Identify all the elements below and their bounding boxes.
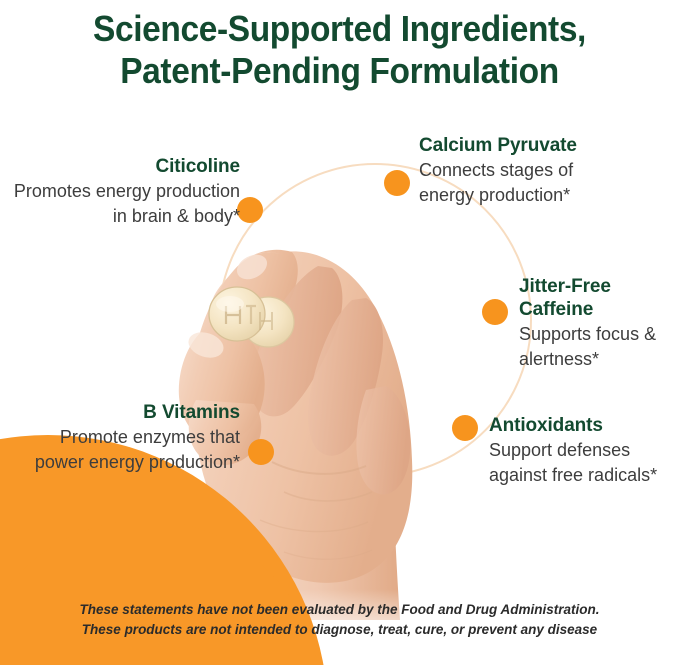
- callout-heading-calcium-pyruvate: Calcium Pyruvate: [419, 134, 619, 157]
- callout-body-antioxidants: Support defenses against free radicals*: [489, 438, 679, 488]
- bullet-dot-calcium-pyruvate: [384, 170, 410, 196]
- title-line-2: Patent-Pending Formulation: [24, 50, 655, 92]
- callout-calcium-pyruvate: Calcium Pyruvate Connects stages of ener…: [419, 134, 619, 208]
- callout-body-calcium-pyruvate: Connects stages of energy production*: [419, 158, 619, 208]
- callout-jitter-free-caffeine: Jitter-Free Caffeine Supports focus & al…: [519, 275, 679, 372]
- bullet-dot-citicoline: [237, 197, 263, 223]
- disclaimer-line-1: These statements have not been evaluated…: [0, 600, 679, 620]
- callout-citicoline: Citicoline Promotes energy production in…: [10, 155, 240, 229]
- disclaimer: These statements have not been evaluated…: [0, 600, 679, 640]
- page-title: Science-Supported Ingredients, Patent-Pe…: [0, 8, 679, 92]
- bullet-dot-caffeine: [482, 299, 508, 325]
- bullet-dot-antioxidants: [452, 415, 478, 441]
- callout-body-jitter-free-caffeine: Supports focus & alertness*: [519, 322, 679, 372]
- title-line-1: Science-Supported Ingredients,: [24, 8, 655, 50]
- callout-body-citicoline: Promotes energy production in brain & bo…: [10, 179, 240, 229]
- callout-heading-citicoline: Citicoline: [10, 155, 240, 178]
- callout-b-vitamins: B Vitamins Promote enzymes that power en…: [10, 401, 240, 475]
- infographic-canvas: Science-Supported Ingredients, Patent-Pe…: [0, 0, 679, 665]
- callout-heading-b-vitamins: B Vitamins: [10, 401, 240, 424]
- disclaimer-line-2: These products are not intended to diagn…: [0, 620, 679, 640]
- callout-heading-antioxidants: Antioxidants: [489, 414, 679, 437]
- callout-body-b-vitamins: Promote enzymes that power energy produc…: [10, 425, 240, 475]
- bullet-dot-b-vitamins: [248, 439, 274, 465]
- callout-antioxidants: Antioxidants Support defenses against fr…: [489, 414, 679, 488]
- callout-heading-jitter-free-caffeine: Jitter-Free Caffeine: [519, 275, 679, 321]
